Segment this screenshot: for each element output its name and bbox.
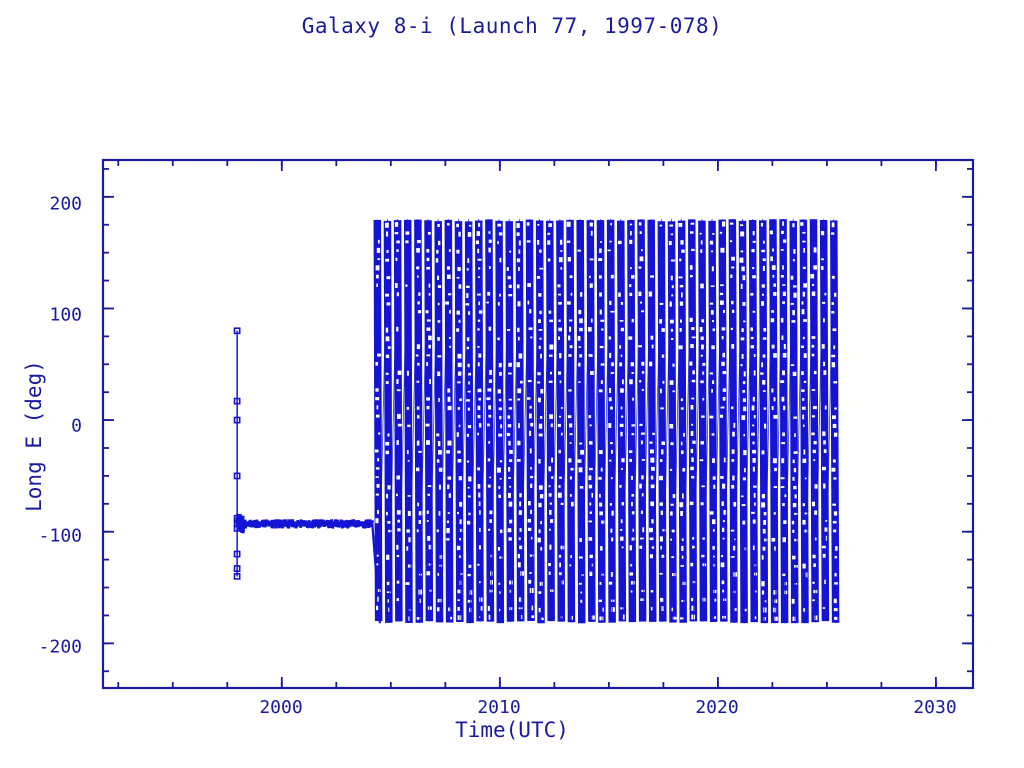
plot-canvas <box>0 0 1024 768</box>
data-series-longitude <box>235 219 838 623</box>
plot-figure: Galaxy 8-i (Launch 77, 1997-078) Time(UT… <box>0 0 1024 768</box>
